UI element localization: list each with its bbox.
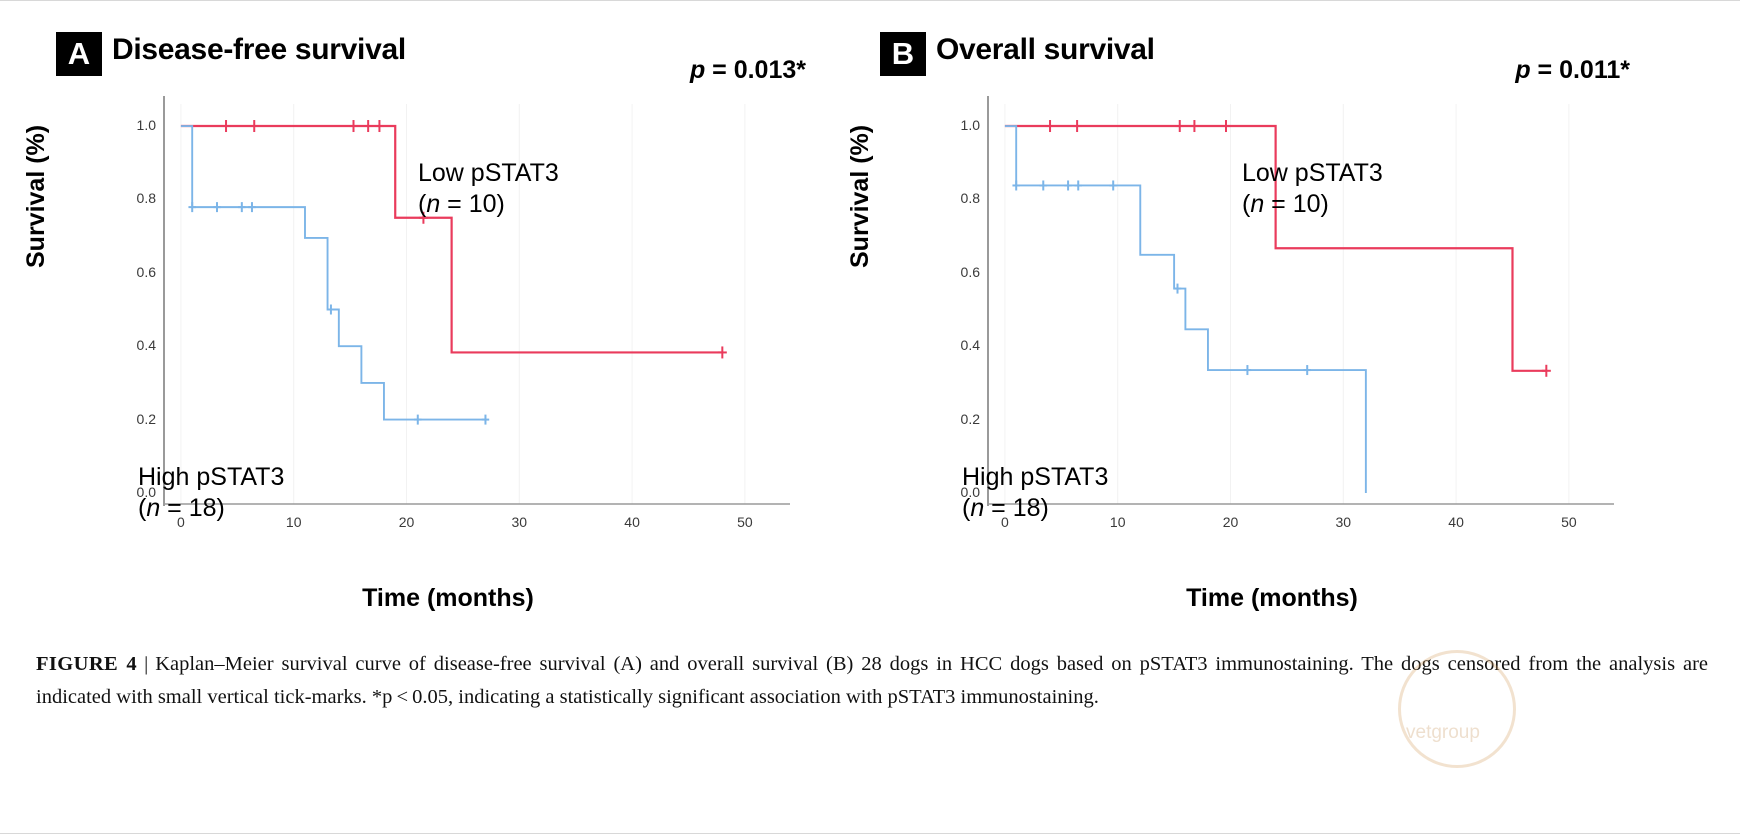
series-label-high-n-b: (n = 18) xyxy=(962,493,1108,524)
y-tick-label: 1.0 xyxy=(940,117,980,133)
y-tick-label: 0.6 xyxy=(116,264,156,280)
panel-disease-free-survival: A Disease-free survival p = 0.013* Survi… xyxy=(28,18,868,628)
y-tick-label: 0.2 xyxy=(940,411,980,427)
top-divider xyxy=(0,0,1740,1)
y-axis-title-a: Survival (%) xyxy=(22,125,51,268)
panel-overall-survival: B Overall survival p = 0.011* Survival (… xyxy=(852,18,1692,628)
x-tick-label: 20 xyxy=(1211,514,1251,530)
x-tick-label: 20 xyxy=(387,514,427,530)
series-label-low-n-b: (n = 10) xyxy=(1242,189,1383,220)
y-tick-label: 0.6 xyxy=(940,264,980,280)
series-label-low-pstat3-a: Low pSTAT3 (n = 10) xyxy=(418,158,559,221)
panel-title-b: Overall survival xyxy=(936,33,1155,67)
series-label-high-pstat3-a: High pSTAT3 (n = 18) xyxy=(138,462,284,525)
x-tick-label: 30 xyxy=(499,514,539,530)
series-label-low-pstat3-b: Low pSTAT3 (n = 10) xyxy=(1242,158,1383,221)
y-tick-label: 0.8 xyxy=(940,190,980,206)
series-label-high-text-a: High pSTAT3 xyxy=(138,462,284,493)
x-tick-label: 50 xyxy=(1549,514,1589,530)
p-value-text-b: = 0.011* xyxy=(1531,56,1630,84)
y-tick-label: 0.4 xyxy=(116,337,156,353)
p-symbol-b: p xyxy=(1515,56,1530,84)
figure-caption-label: FIGURE 4 xyxy=(36,653,137,675)
p-value-annotation-a: p = 0.013* xyxy=(690,56,806,85)
x-axis-title-b: Time (months) xyxy=(852,584,1692,613)
x-tick-label: 40 xyxy=(612,514,652,530)
x-axis-title-a: Time (months) xyxy=(28,584,868,613)
y-tick-label: 0.8 xyxy=(116,190,156,206)
p-symbol-a: p xyxy=(690,56,705,84)
figure-caption-separator: | xyxy=(137,653,155,675)
y-tick-label: 1.0 xyxy=(116,117,156,133)
panel-title-a: Disease-free survival xyxy=(112,33,406,67)
series-label-high-text-b: High pSTAT3 xyxy=(962,462,1108,493)
figure-caption-text: Kaplan–Meier survival curve of disease-f… xyxy=(36,653,1708,708)
y-tick-label: 0.4 xyxy=(940,337,980,353)
x-tick-label: 40 xyxy=(1436,514,1476,530)
series-label-low-text-a: Low pSTAT3 xyxy=(418,158,559,189)
figure-caption: FIGURE 4|Kaplan–Meier survival curve of … xyxy=(36,648,1708,714)
x-tick-label: 50 xyxy=(725,514,765,530)
figure-root: A Disease-free survival p = 0.013* Survi… xyxy=(0,0,1740,834)
x-tick-label: 30 xyxy=(1323,514,1363,530)
series-label-high-pstat3-b: High pSTAT3 (n = 18) xyxy=(962,462,1108,525)
series-label-high-n-a: (n = 18) xyxy=(138,493,284,524)
y-tick-label: 0.2 xyxy=(116,411,156,427)
y-axis-title-b: Survival (%) xyxy=(846,125,875,268)
p-value-text-a: = 0.013* xyxy=(705,56,806,84)
p-value-annotation-b: p = 0.011* xyxy=(1515,56,1630,85)
series-label-low-n-a: (n = 10) xyxy=(418,189,559,220)
watermark-label: vetgroup xyxy=(1406,722,1480,744)
panel-letter-badge-b: B xyxy=(880,32,926,76)
series-label-low-text-b: Low pSTAT3 xyxy=(1242,158,1383,189)
panel-letter-badge-a: A xyxy=(56,32,102,76)
